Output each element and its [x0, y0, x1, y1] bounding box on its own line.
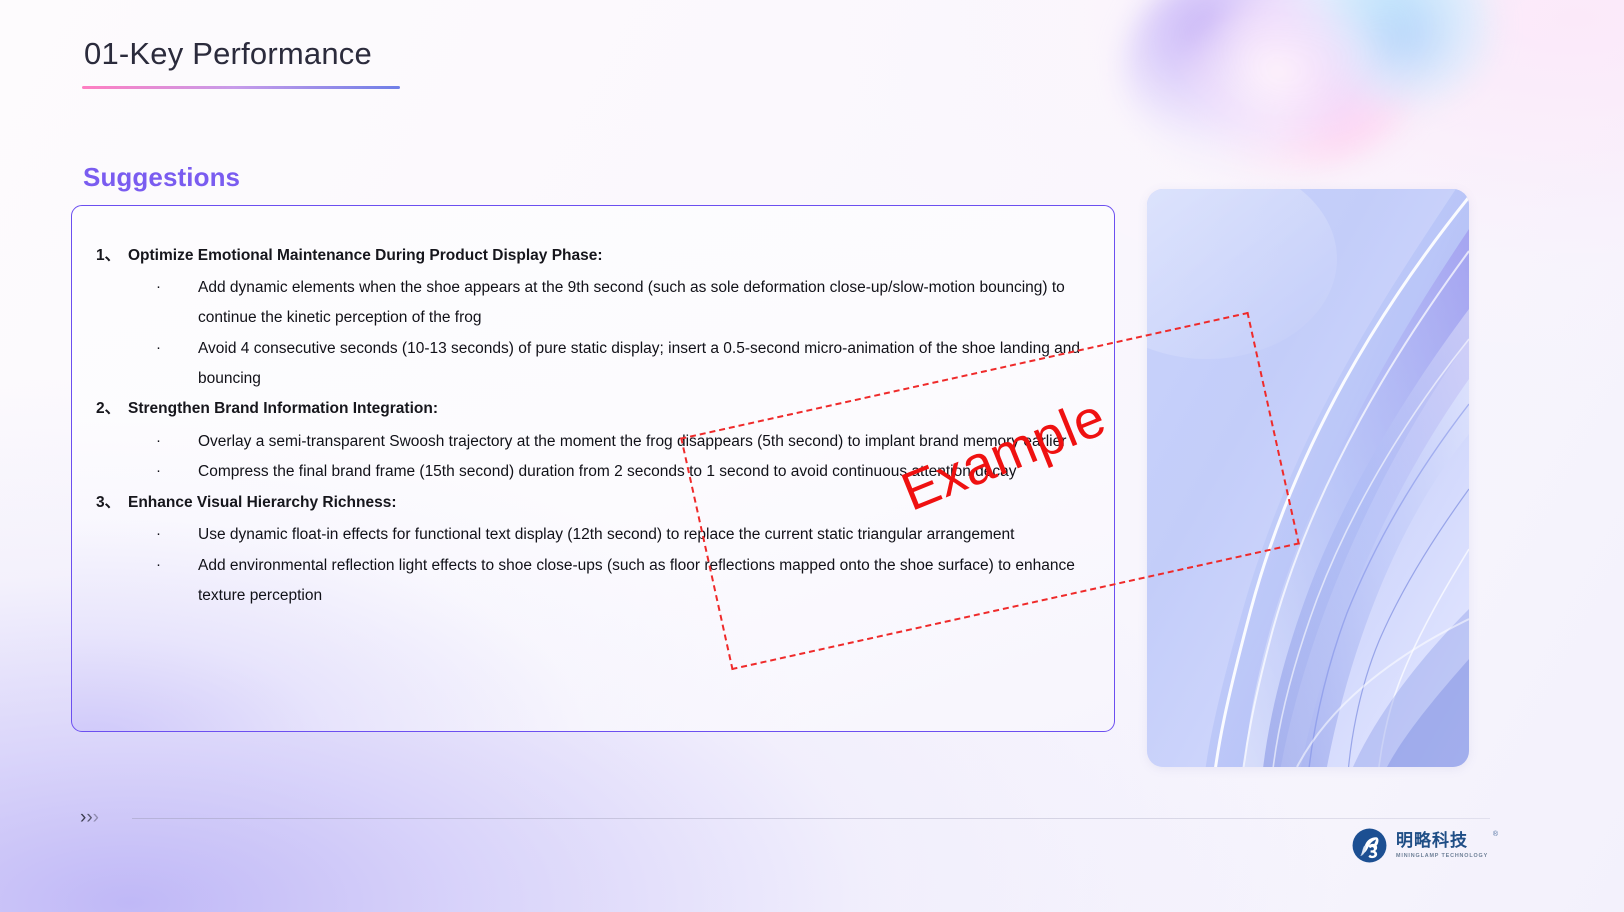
blob-shape-c	[1180, 0, 1392, 166]
blob-shape-b	[1234, 0, 1494, 133]
suggestion-bullet-1-1: · Add dynamic elements when the shoe app…	[96, 273, 1088, 333]
suggestion-bullet-3-1: · Use dynamic float-in effects for funct…	[96, 520, 1088, 550]
suggestion-heading-text-2: Strengthen Brand Information Integration…	[128, 397, 1088, 420]
iridescent-blob-decoration	[1084, 0, 1514, 198]
suggestion-heading-text-3: Enhance Visual Hierarchy Richness:	[128, 491, 1088, 514]
side-decorative-image	[1147, 189, 1469, 767]
footer-brand-logo: 明略科技® MININGLAMP TECHNOLOGY	[1352, 828, 1488, 863]
logo-name-cn: 明略科技®	[1396, 832, 1488, 851]
chevron-right-icon: ›	[93, 808, 99, 827]
suggestion-heading-1: 1、 Optimize Emotional Maintenance During…	[96, 244, 1088, 267]
logo-name-en: MININGLAMP TECHNOLOGY	[1396, 853, 1488, 859]
bullet-dot-icon: ·	[156, 520, 198, 549]
suggestion-bullet-2-2: · Compress the final brand frame (15th s…	[96, 457, 1088, 487]
suggestion-number-1: 1、	[96, 244, 128, 267]
suggestion-number-3: 3、	[96, 491, 128, 514]
bullet-dot-icon: ·	[156, 273, 198, 302]
suggestion-heading-2: 2、 Strengthen Brand Information Integrat…	[96, 397, 1088, 420]
blob-shape-d	[1322, 0, 1492, 114]
suggestions-list: 1、 Optimize Emotional Maintenance During…	[72, 206, 1114, 611]
suggestion-group-1: 1、 Optimize Emotional Maintenance During…	[96, 244, 1088, 393]
suggestion-heading-text-1: Optimize Emotional Maintenance During Pr…	[128, 244, 1088, 267]
logo-name-cn-text: 明略科技	[1396, 831, 1468, 850]
page-title: 01-Key Performance	[84, 36, 372, 72]
registered-trademark-icon: ®	[1493, 831, 1499, 839]
suggestion-bullet-3-2: · Add environmental reflection light eff…	[96, 551, 1088, 611]
section-heading-suggestions: Suggestions	[83, 162, 240, 193]
bullet-text: Use dynamic float-in effects for functio…	[198, 520, 1088, 550]
mininglamp-logo-icon	[1352, 828, 1387, 863]
suggestions-content-box: 1、 Optimize Emotional Maintenance During…	[71, 205, 1115, 732]
logo-text-block: 明略科技® MININGLAMP TECHNOLOGY	[1396, 832, 1488, 859]
bullet-dot-icon: ·	[156, 551, 198, 580]
slide-canvas: 01-Key Performance Suggestions 1、 Optimi…	[0, 0, 1624, 912]
bullet-text: Overlay a semi-transparent Swoosh trajec…	[198, 427, 1088, 457]
suggestion-group-3: 3、 Enhance Visual Hierarchy Richness: · …	[96, 491, 1088, 611]
footer-divider-rule	[132, 818, 1490, 819]
bullet-dot-icon: ·	[156, 334, 198, 363]
bullet-dot-icon: ·	[156, 457, 198, 486]
suggestion-group-2: 2、 Strengthen Brand Information Integrat…	[96, 397, 1088, 487]
footer-chevron-group: › › ›	[80, 808, 99, 827]
bullet-text: Avoid 4 consecutive seconds (10-13 secon…	[198, 334, 1088, 394]
suggestion-heading-3: 3、 Enhance Visual Hierarchy Richness:	[96, 491, 1088, 514]
blob-shape-a	[1124, 0, 1424, 174]
title-underline-rule	[82, 86, 400, 89]
bullet-text: Compress the final brand frame (15th sec…	[198, 457, 1088, 487]
bullet-dot-icon: ·	[156, 427, 198, 456]
suggestion-bullet-2-1: · Overlay a semi-transparent Swoosh traj…	[96, 427, 1088, 457]
suggestion-number-2: 2、	[96, 397, 128, 420]
suggestion-bullet-1-2: · Avoid 4 consecutive seconds (10-13 sec…	[96, 334, 1088, 394]
bullet-text: Add environmental reflection light effec…	[198, 551, 1088, 611]
bullet-text: Add dynamic elements when the shoe appea…	[198, 273, 1088, 333]
